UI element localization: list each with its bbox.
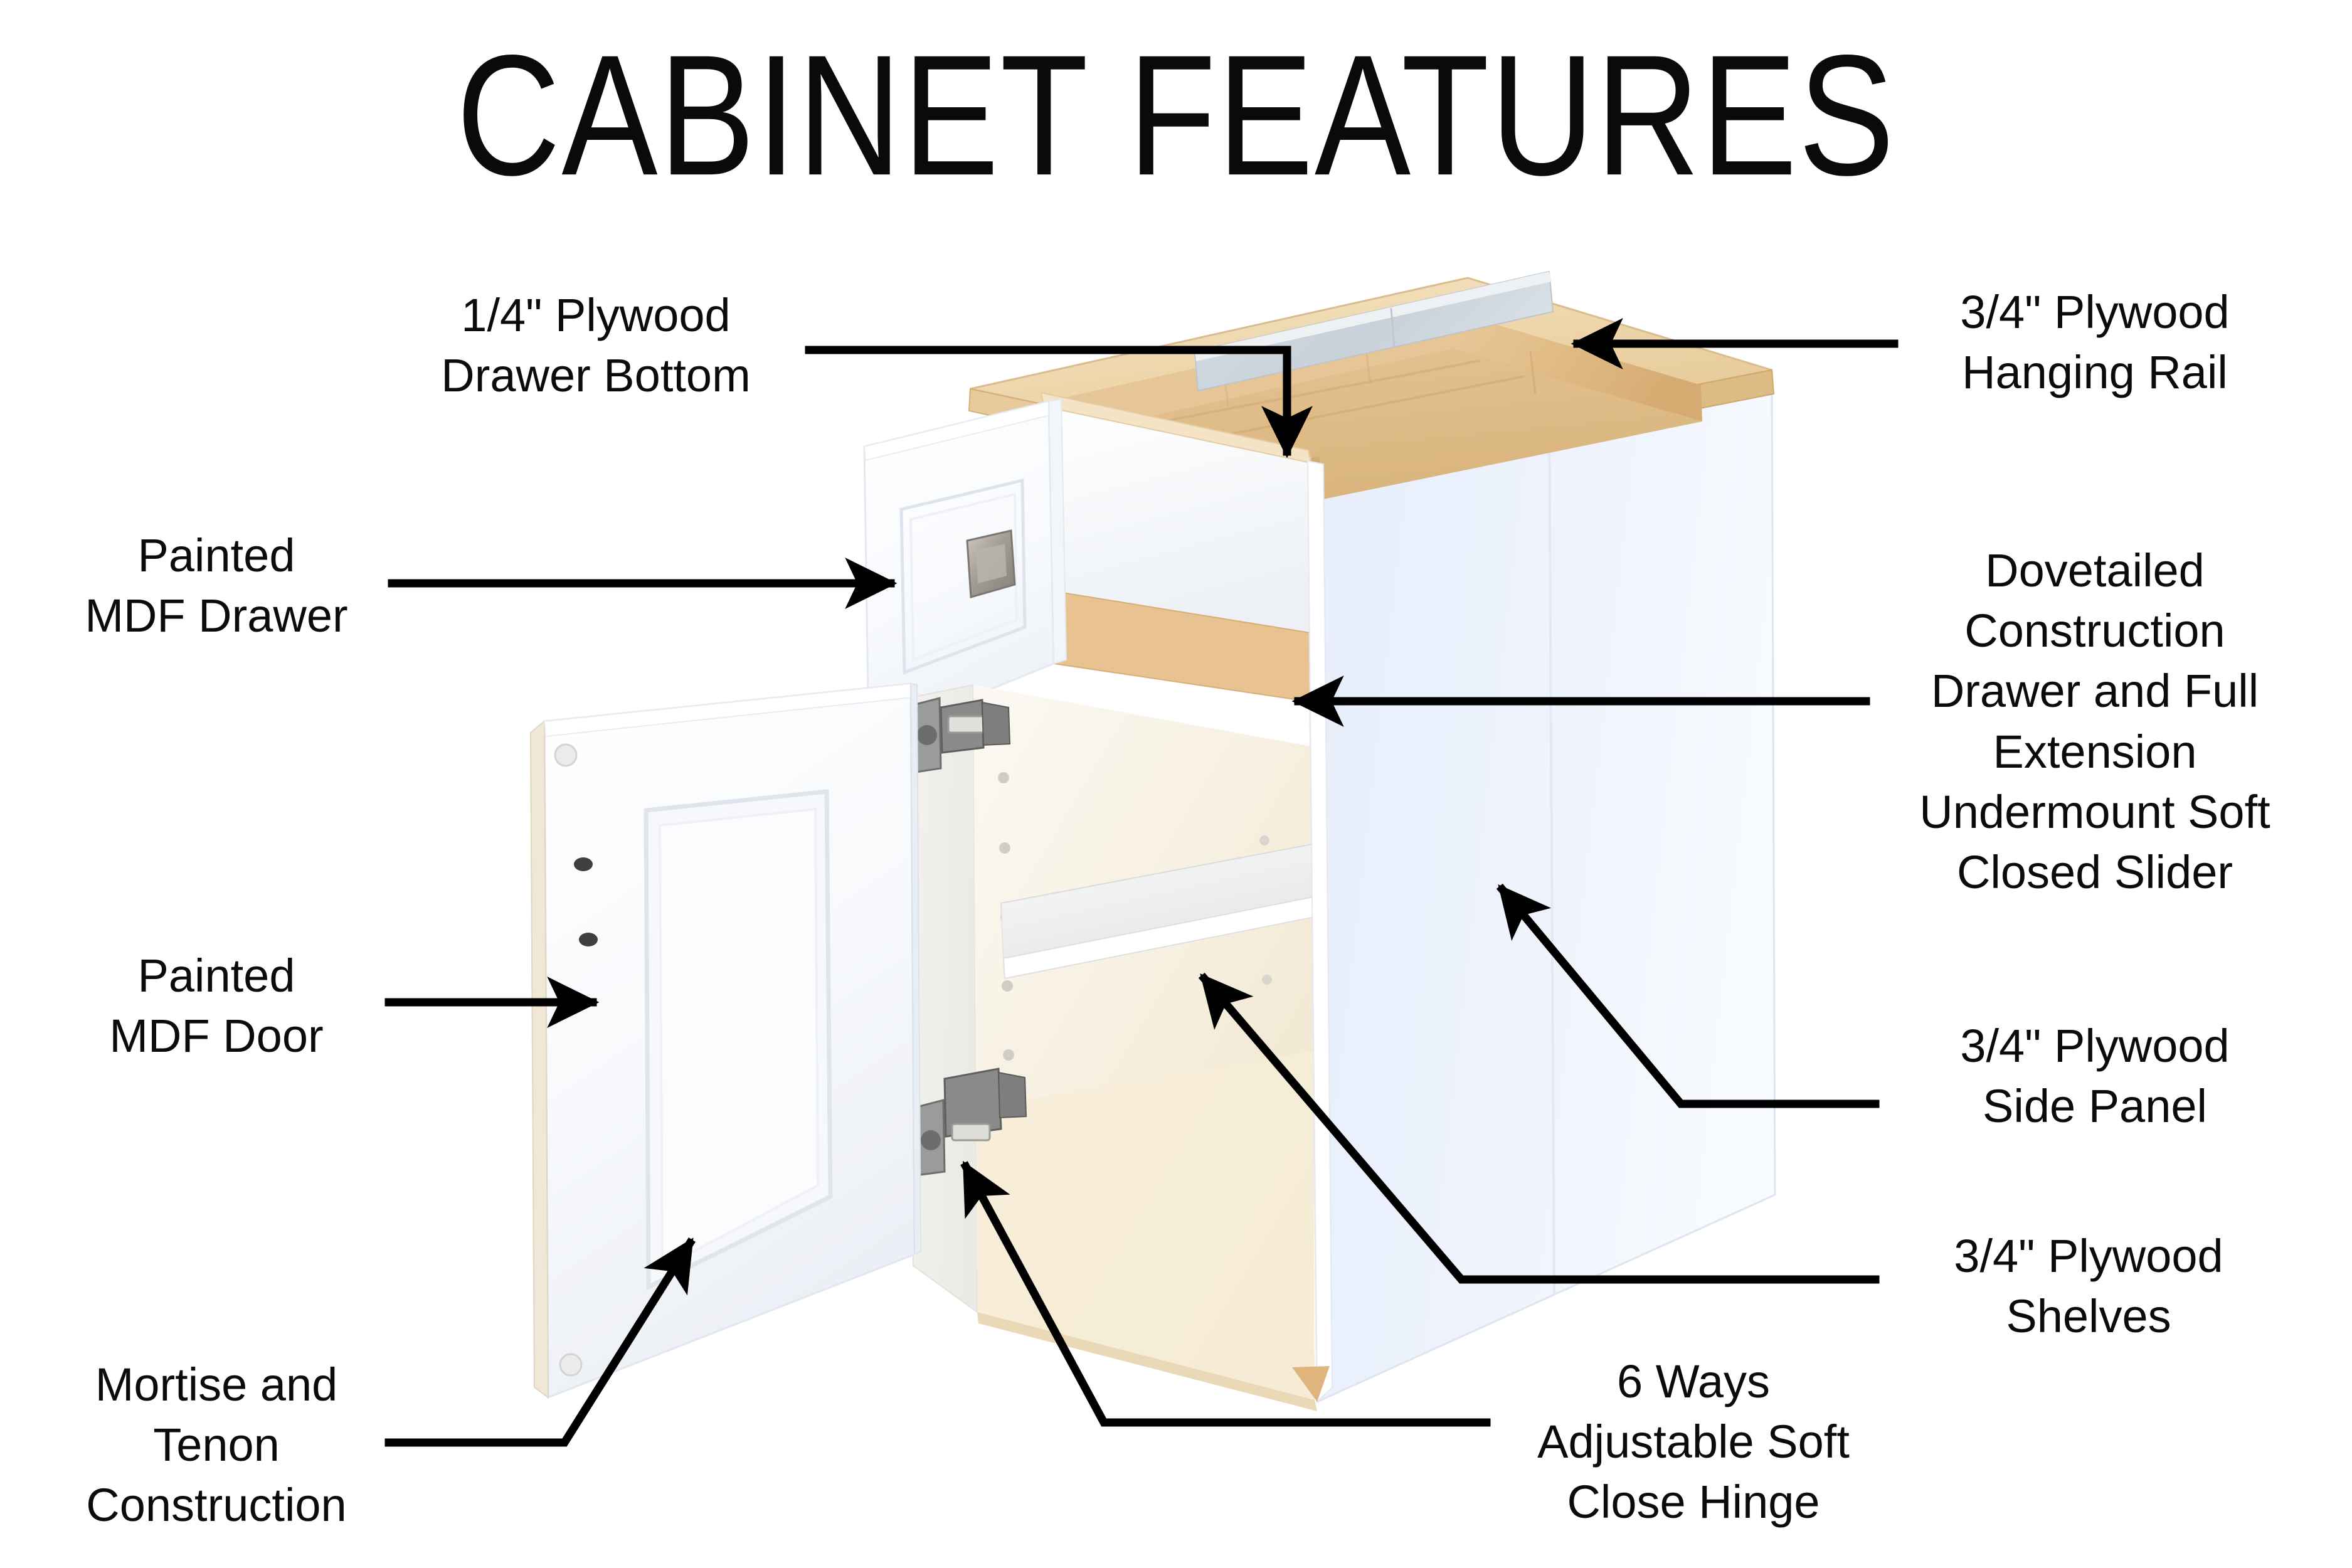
arrow-side-panel bbox=[1502, 889, 1875, 1104]
drawer-front-recess bbox=[901, 480, 1025, 672]
hanging-rail-top-edge bbox=[1195, 272, 1552, 361]
drawer-box[interactable] bbox=[1041, 393, 1325, 702]
arrow-shelves bbox=[1204, 978, 1875, 1279]
interior-left-wall bbox=[911, 685, 977, 1312]
interior-shelf[interactable] bbox=[1001, 844, 1315, 978]
callout-arrows bbox=[389, 344, 1894, 1443]
interior-bottom-panel bbox=[977, 1051, 1315, 1400]
shelf-front-edge bbox=[1001, 903, 1006, 976]
arrow-drawer-bottom bbox=[809, 350, 1287, 452]
shelf-top-face bbox=[1001, 844, 1313, 958]
drawer-box-underside-band bbox=[1051, 591, 1316, 702]
shelf-pin-holes bbox=[998, 772, 1014, 1061]
callout-mortise-tenon: Mortise and Tenon Construction bbox=[34, 1355, 398, 1536]
cabinet-interior bbox=[911, 685, 1317, 1411]
side-panel-bottom-wedge bbox=[1292, 1366, 1330, 1402]
door-top-edge bbox=[544, 684, 912, 736]
drawer-front[interactable] bbox=[864, 401, 1054, 739]
door-hinge-cup-upper bbox=[574, 857, 593, 871]
plywood-back-wall bbox=[1049, 311, 1453, 439]
drawer-front-recess-inner bbox=[911, 494, 1017, 660]
drawer-box-right-side bbox=[1049, 401, 1314, 633]
drawer-front-face bbox=[864, 401, 1054, 739]
interior-back-wall bbox=[973, 685, 1315, 1400]
side-panel-front-edge bbox=[1308, 461, 1332, 1402]
cabinet-top-right-lip bbox=[1308, 370, 1774, 485]
poster-canvas: CABINET FEATURES bbox=[0, 0, 2352, 1568]
drawer-knob[interactable] bbox=[967, 531, 1015, 597]
cabinet-top-front-lip bbox=[969, 389, 1308, 484]
cabinet-carcass bbox=[531, 272, 1775, 1411]
door-bumper-top bbox=[555, 744, 576, 766]
callout-painted-mdf-drawer: Painted MDF Drawer bbox=[38, 526, 395, 646]
drawer-front-right-edge bbox=[1049, 399, 1066, 664]
plywood-interior-floor bbox=[1051, 349, 1702, 502]
shelf-pin-holes-right bbox=[1259, 835, 1272, 985]
drawer-gap-shadow bbox=[1311, 457, 1325, 702]
page-title: CABINET FEATURES bbox=[12, 30, 2341, 202]
cabinet-door[interactable] bbox=[531, 684, 914, 1397]
right-side-panel bbox=[1308, 370, 1775, 1402]
door-shaker-panel bbox=[646, 792, 830, 1287]
callout-painted-mdf-door: Painted MDF Door bbox=[38, 946, 395, 1066]
door-outer-edge bbox=[531, 721, 548, 1397]
callout-dovetailed-slider: Dovetailed Construction Drawer and Full … bbox=[1875, 541, 2314, 903]
callout-soft-close-hinge: 6 Ways Adjustable Soft Close Hinge bbox=[1486, 1352, 1900, 1533]
drawer-front-top-edge bbox=[864, 401, 1050, 460]
cabinet-bottom-deck bbox=[977, 1312, 1317, 1411]
lower-hinge[interactable] bbox=[914, 1069, 1026, 1175]
plywood-right-wall bbox=[1450, 311, 1702, 421]
hanging-rail bbox=[1195, 272, 1553, 391]
arrow-mortise-tenon bbox=[389, 1243, 690, 1443]
callout-drawer-bottom: 1/4" Plywood Drawer Bottom bbox=[401, 285, 790, 406]
callout-side-panel: 3/4" Plywood Side Panel bbox=[1900, 1016, 2289, 1136]
callout-shelves: 3/4" Plywood Shelves bbox=[1888, 1226, 2289, 1347]
door-hinge-edge bbox=[911, 684, 921, 1254]
shelf-edge-band bbox=[1004, 897, 1315, 978]
door-hinge-cup-lower bbox=[579, 933, 598, 946]
drawer-box-top-edge bbox=[1041, 393, 1311, 463]
cabinet-top-rim bbox=[970, 278, 1772, 461]
door-shaker-panel-inner bbox=[660, 809, 818, 1268]
upper-hinge[interactable] bbox=[911, 698, 1010, 773]
arrow-soft-close-hinge bbox=[966, 1167, 1486, 1422]
door-face bbox=[544, 684, 914, 1397]
callout-hanging-rail: 3/4" Plywood Hanging Rail bbox=[1900, 282, 2289, 403]
door-bumper-bottom bbox=[560, 1354, 581, 1375]
plywood-interior-opening bbox=[1049, 311, 1701, 458]
